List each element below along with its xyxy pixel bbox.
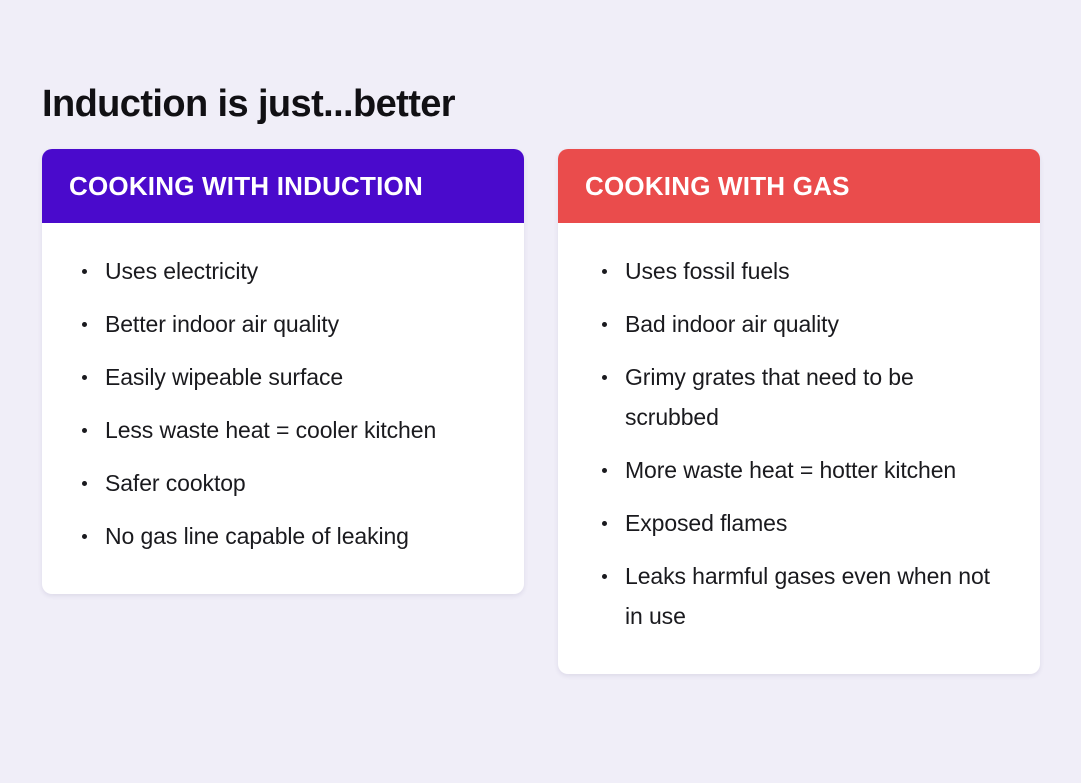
bullet-dot-icon (602, 375, 607, 380)
bullet-dot-icon (82, 481, 87, 486)
list-item-label: Grimy grates that need to be scrubbed (625, 364, 914, 430)
list-item: Exposed flames (594, 503, 1010, 543)
list-item: Uses electricity (74, 251, 494, 291)
bullet-dot-icon (82, 375, 87, 380)
list-item: Less waste heat = cooler kitchen (74, 410, 494, 450)
list-item: Uses fossil fuels (594, 251, 1010, 291)
bullet-dot-icon (602, 468, 607, 473)
card-header-label-gas: COOKING WITH GAS (585, 173, 850, 199)
list-item-label: More waste heat = hotter kitchen (625, 457, 956, 483)
comparison-cards: COOKING WITH INDUCTION Uses electricity … (42, 149, 1040, 674)
bullet-dot-icon (602, 574, 607, 579)
card-cooking-with-induction: COOKING WITH INDUCTION Uses electricity … (42, 149, 524, 594)
bullet-list-gas: Uses fossil fuels Bad indoor air quality… (594, 251, 1010, 636)
card-body-gas: Uses fossil fuels Bad indoor air quality… (558, 223, 1040, 674)
list-item: Grimy grates that need to be scrubbed (594, 357, 1010, 437)
bullet-dot-icon (602, 521, 607, 526)
list-item-label: No gas line capable of leaking (105, 523, 409, 549)
card-header-label-induction: COOKING WITH INDUCTION (69, 173, 423, 199)
list-item-label: Exposed flames (625, 510, 787, 536)
list-item: Bad indoor air quality (594, 304, 1010, 344)
list-item-label: Uses fossil fuels (625, 258, 789, 284)
bullet-dot-icon (82, 534, 87, 539)
list-item: Easily wipeable surface (74, 357, 494, 397)
list-item-label: Safer cooktop (105, 470, 246, 496)
list-item-label: Easily wipeable surface (105, 364, 343, 390)
list-item: Leaks harmful gases even when not in use (594, 556, 1010, 636)
list-item-label: Better indoor air quality (105, 311, 339, 337)
bullet-dot-icon (82, 428, 87, 433)
page-title: Induction is just...better (42, 84, 455, 126)
card-header-induction: COOKING WITH INDUCTION (42, 149, 524, 223)
list-item: More waste heat = hotter kitchen (594, 450, 1010, 490)
card-body-induction: Uses electricity Better indoor air quali… (42, 223, 524, 594)
list-item: No gas line capable of leaking (74, 516, 494, 556)
list-item-label: Less waste heat = cooler kitchen (105, 417, 436, 443)
list-item-label: Leaks harmful gases even when not in use (625, 563, 990, 629)
bullet-dot-icon (82, 322, 87, 327)
card-cooking-with-gas: COOKING WITH GAS Uses fossil fuels Bad i… (558, 149, 1040, 674)
list-item: Safer cooktop (74, 463, 494, 503)
list-item-label: Uses electricity (105, 258, 258, 284)
bullet-dot-icon (82, 269, 87, 274)
list-item: Better indoor air quality (74, 304, 494, 344)
bullet-dot-icon (602, 322, 607, 327)
bullet-list-induction: Uses electricity Better indoor air quali… (74, 251, 494, 556)
list-item-label: Bad indoor air quality (625, 311, 839, 337)
card-header-gas: COOKING WITH GAS (558, 149, 1040, 223)
bullet-dot-icon (602, 269, 607, 274)
comparison-infographic: Induction is just...better COOKING WITH … (0, 0, 1081, 783)
